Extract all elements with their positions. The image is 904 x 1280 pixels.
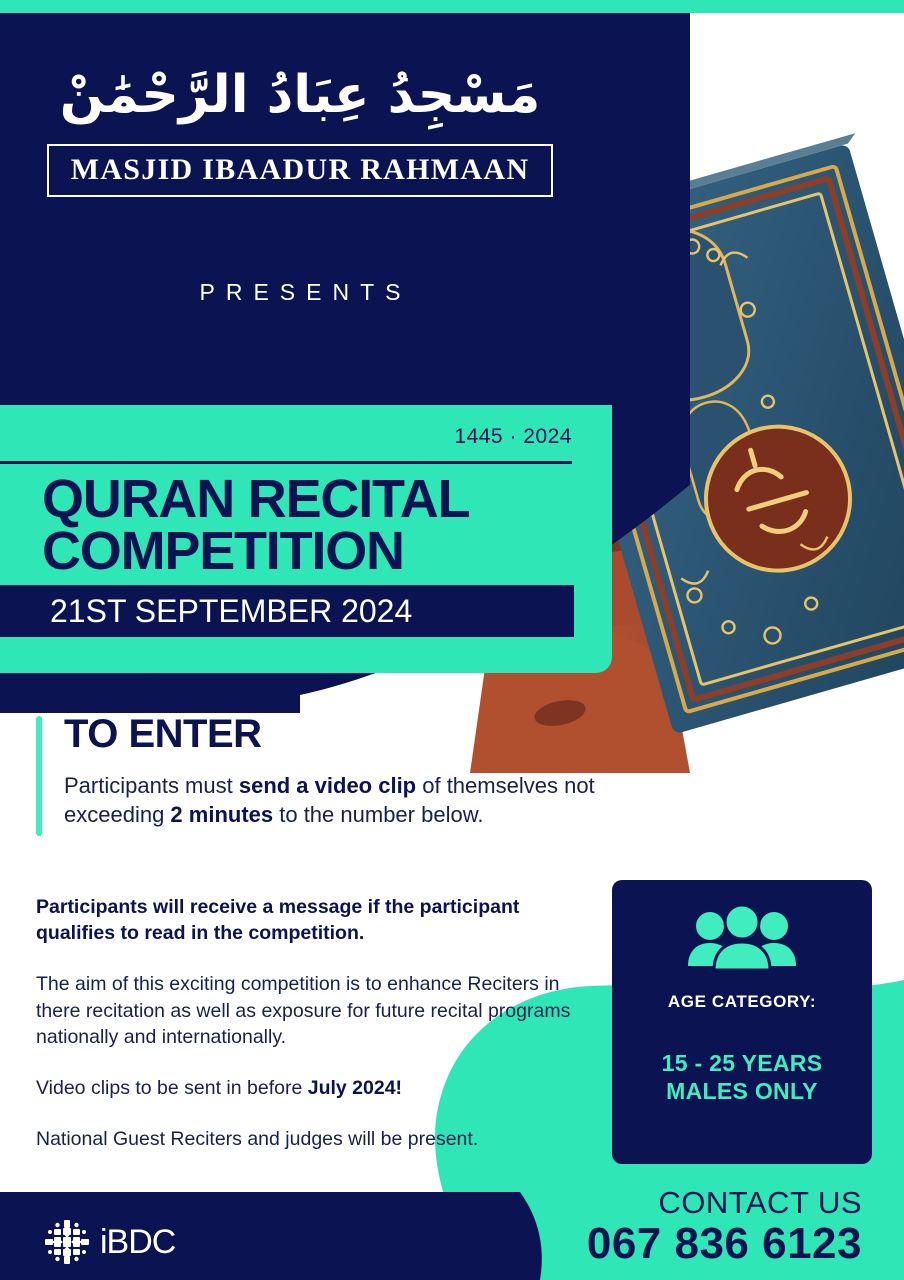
age-category-card: AGE CATEGORY: 15 - 25 YEARS MALES ONLY xyxy=(612,880,872,1164)
gender-restriction: MALES ONLY xyxy=(612,1078,872,1106)
hijri-gregorian-year: 1445 · 2024 xyxy=(454,425,572,449)
header-block: مَسْجِدُ عِبَادُ الرَّحْمَٰنْ MASJID IBA… xyxy=(0,60,600,306)
teal-accent-bar xyxy=(36,716,42,836)
event-date-bar: 21ST SEPTEMBER 2024 xyxy=(0,585,574,637)
masjid-name-box: MASJID IBAADUR RAHMAAN xyxy=(47,144,554,197)
event-date: 21ST SEPTEMBER 2024 xyxy=(0,593,412,630)
judges-paragraph: National Guest Reciters and judges will … xyxy=(36,1126,576,1153)
ibdc-logo-text: iBDC xyxy=(100,1223,175,1262)
presents-label: PRESENTS xyxy=(0,279,600,306)
contact-phone-number[interactable]: 067 836 6123 xyxy=(587,1219,862,1269)
to-enter-bold-1: send a video clip xyxy=(239,773,416,798)
people-group-icon-svg xyxy=(683,904,801,970)
contact-block: CONTACT US 067 836 6123 xyxy=(587,1185,862,1269)
deadline-paragraph: Video clips to be sent in before July 20… xyxy=(36,1075,576,1102)
aim-paragraph: The aim of this exciting competition is … xyxy=(36,971,576,1052)
age-category-label: AGE CATEGORY: xyxy=(612,992,872,1012)
top-accent-strip xyxy=(0,0,904,13)
arabic-masjid-title: مَسْجِدُ عِبَادُ الرَّحْمَٰنْ xyxy=(0,60,600,130)
to-enter-instructions: Participants must send a video clip of t… xyxy=(64,771,656,830)
masjid-name-label: MASJID IBAADUR RAHMAAN xyxy=(71,153,530,186)
to-enter-section: TO ENTER Participants must send a video … xyxy=(36,712,656,830)
age-category-value: 15 - 25 YEARS MALES ONLY xyxy=(612,1050,872,1105)
to-enter-bold-2: 2 minutes xyxy=(170,802,273,827)
banner-divider xyxy=(0,461,572,464)
deadline-date: July 2024! xyxy=(308,1077,402,1099)
to-enter-text-1: Participants must xyxy=(64,773,239,798)
ornamental-star-icon xyxy=(44,1218,90,1266)
people-group-icon xyxy=(612,904,872,970)
qualify-note: Participants will receive a message if t… xyxy=(36,894,576,947)
to-enter-text-3: to the number below. xyxy=(273,802,483,827)
to-enter-heading: TO ENTER xyxy=(64,712,656,757)
contact-us-label: CONTACT US xyxy=(587,1185,862,1221)
event-title-line1: QURAN RECITAL xyxy=(42,469,469,529)
event-title-line2: COMPETITION xyxy=(42,525,602,577)
details-section: Participants will receive a message if t… xyxy=(36,894,576,1153)
ibdc-logo: iBDC xyxy=(44,1218,175,1266)
deadline-text: Video clips to be sent in before xyxy=(36,1077,308,1099)
age-range: 15 - 25 YEARS xyxy=(612,1050,872,1078)
event-title: QURAN RECITAL COMPETITION xyxy=(42,473,602,578)
poster-root: مَسْجِدُ عِبَادُ الرَّحْمَٰنْ MASJID IBA… xyxy=(0,0,904,1280)
